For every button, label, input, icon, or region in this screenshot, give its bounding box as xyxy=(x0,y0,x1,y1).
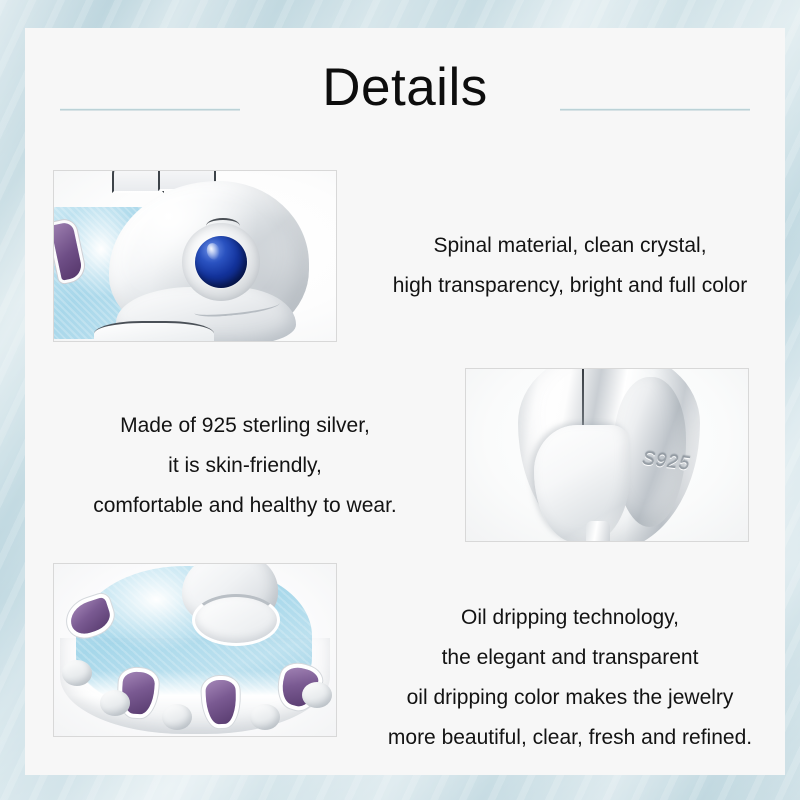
page-header: Details xyxy=(25,48,785,128)
feature-text-silver: Made of 925 sterling silver, it is skin-… xyxy=(45,406,445,526)
silver-nub xyxy=(302,682,332,708)
dinosaur-neck xyxy=(94,321,214,341)
feature-text-oil-dripping: Oil dripping technology, the elegant and… xyxy=(355,598,785,758)
blue-gemstone-eye xyxy=(195,236,247,288)
feature-text-line: oil dripping color makes the jewelry xyxy=(355,678,785,718)
head-crest-left xyxy=(112,171,164,193)
photo-crystal-artwork xyxy=(54,171,336,341)
silver-nub xyxy=(100,690,130,716)
feature-text-line: Oil dripping technology, xyxy=(355,598,785,638)
silver-stem xyxy=(586,521,610,541)
feature-photo-silver[interactable]: S925 xyxy=(465,368,749,542)
silver-nub xyxy=(250,704,280,730)
feature-text-line: more beautiful, clear, fresh and refined… xyxy=(355,718,785,758)
feature-text-line: the elegant and transparent xyxy=(355,638,785,678)
photo-oil-dripping-artwork xyxy=(54,564,336,736)
feature-photo-crystal[interactable] xyxy=(53,170,337,342)
feature-text-line: Spinal material, clean crystal, xyxy=(355,226,785,266)
photo-silver-artwork: S925 xyxy=(466,369,748,541)
silver-nub xyxy=(62,660,92,686)
silver-petal xyxy=(534,425,630,541)
eye-brow-line xyxy=(206,218,240,234)
feature-text-crystal: Spinal material, clean crystal, high tra… xyxy=(355,226,785,306)
feature-text-line: comfortable and healthy to wear. xyxy=(45,486,445,526)
header-rule-right xyxy=(560,108,750,111)
content-card: Details Spinal material, xyxy=(25,28,785,775)
feature-text-line: it is skin-friendly, xyxy=(45,446,445,486)
silver-swirl xyxy=(192,594,280,646)
detail-page: Details Spinal material, xyxy=(0,0,800,800)
feature-text-line: Made of 925 sterling silver, xyxy=(45,406,445,446)
silver-nub xyxy=(162,704,192,730)
feature-photo-oil-dripping[interactable] xyxy=(53,563,337,737)
feature-text-line: high transparency, bright and full color xyxy=(355,266,785,306)
